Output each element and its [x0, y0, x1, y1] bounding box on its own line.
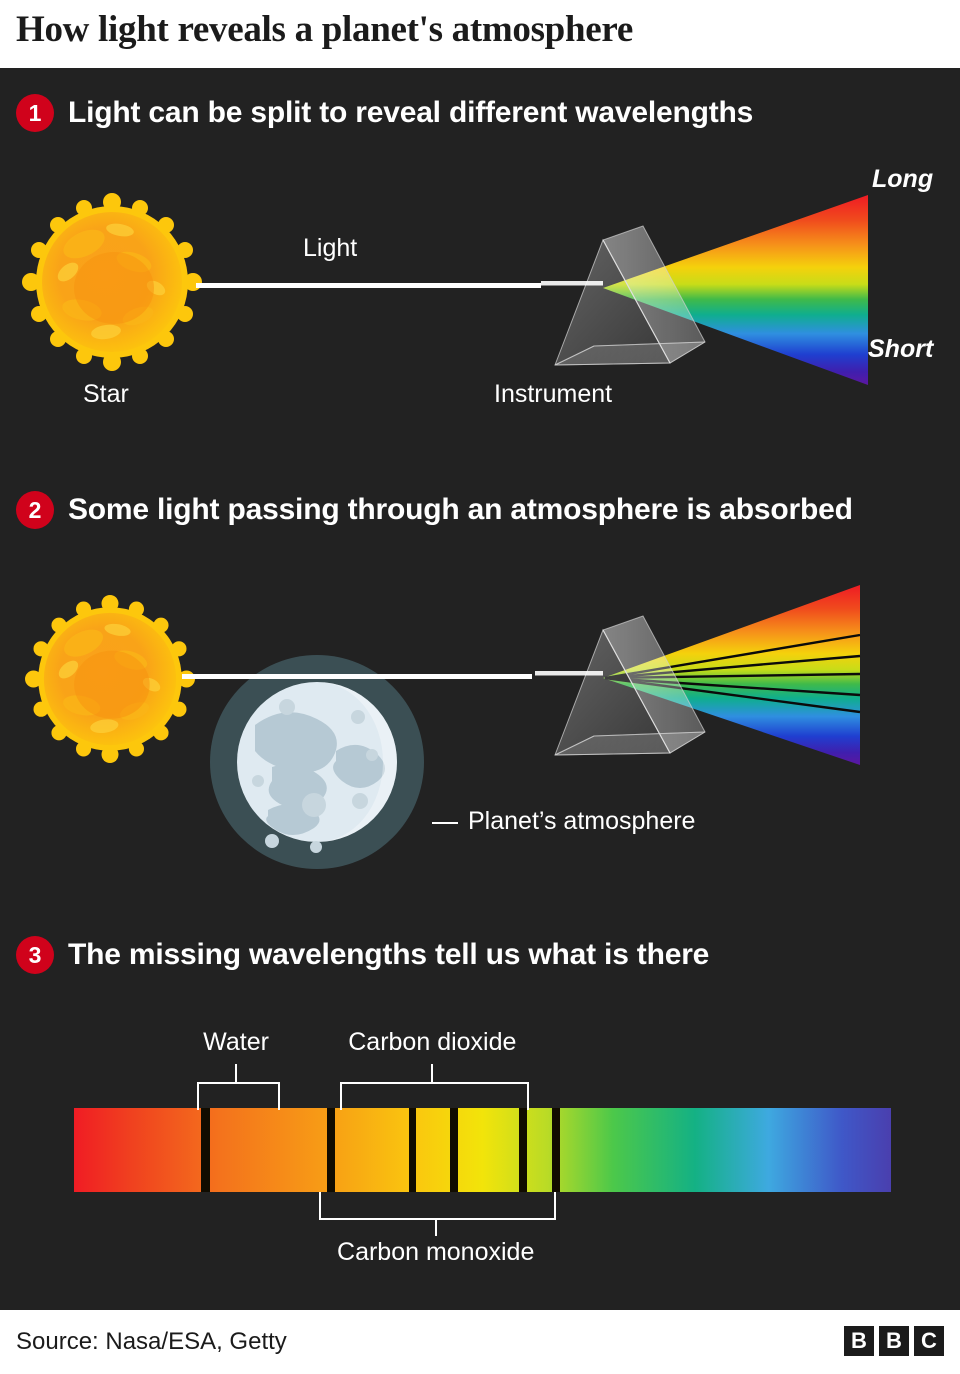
tick-carbon-monoxide [435, 1218, 437, 1236]
absorption-spectrum-chart [74, 1108, 891, 1192]
bbc-logo: B B C [844, 1326, 944, 1356]
tick-water [235, 1064, 237, 1082]
star-label-1: Star [83, 380, 129, 409]
step-3-badge: 3 [16, 936, 54, 974]
bbc-logo-letter-1: B [844, 1326, 874, 1356]
title-band: How light reveals a planet's atmosphere [0, 0, 960, 68]
absorption-band-2 [327, 1108, 335, 1192]
bbc-logo-letter-3: C [914, 1326, 944, 1356]
bracket-water [197, 1082, 280, 1110]
star-icon-2 [25, 594, 195, 764]
step-3-title: The missing wavelengths tell us what is … [68, 935, 709, 975]
long-label: Long [872, 165, 933, 194]
page-title: How light reveals a planet's atmosphere [16, 8, 633, 51]
step-1-title: Light can be split to reveal different w… [68, 93, 753, 133]
absorption-band-3 [409, 1108, 416, 1192]
atmosphere-label: Planet’s atmosphere [468, 807, 695, 836]
prism-and-spectrum-1 [455, 160, 960, 410]
absorption-band-4 [450, 1108, 458, 1192]
light-label: Light [303, 234, 357, 263]
bracket-carbon-dioxide [340, 1082, 529, 1110]
source-credit: Source: Nasa/ESA, Getty [16, 1328, 287, 1356]
atmosphere-leader-line [432, 822, 458, 824]
short-label: Short [868, 335, 933, 364]
label-carbon-monoxide: Carbon monoxide [337, 1238, 534, 1267]
step-2-title: Some light passing through an atmosphere… [68, 490, 853, 530]
label-water: Water [203, 1028, 269, 1057]
instrument-label: Instrument [494, 380, 612, 409]
bbc-logo-letter-2: B [879, 1326, 909, 1356]
absorption-band-1 [201, 1108, 210, 1192]
spectrum-gradient-bar [74, 1108, 891, 1192]
absorption-band-5 [519, 1108, 526, 1192]
label-carbon-dioxide: Carbon dioxide [348, 1028, 516, 1057]
bracket-carbon-monoxide [319, 1192, 556, 1220]
footer-band: Source: Nasa/ESA, Getty B B C [0, 1310, 960, 1374]
prism-and-spectrum-2 [455, 570, 960, 790]
absorption-band-6 [552, 1108, 560, 1192]
step-2-badge: 2 [16, 491, 54, 529]
tick-carbon-dioxide [431, 1064, 433, 1082]
star-icon-1 [22, 192, 202, 372]
planet-with-atmosphere [210, 655, 425, 870]
step-1-badge: 1 [16, 94, 54, 132]
